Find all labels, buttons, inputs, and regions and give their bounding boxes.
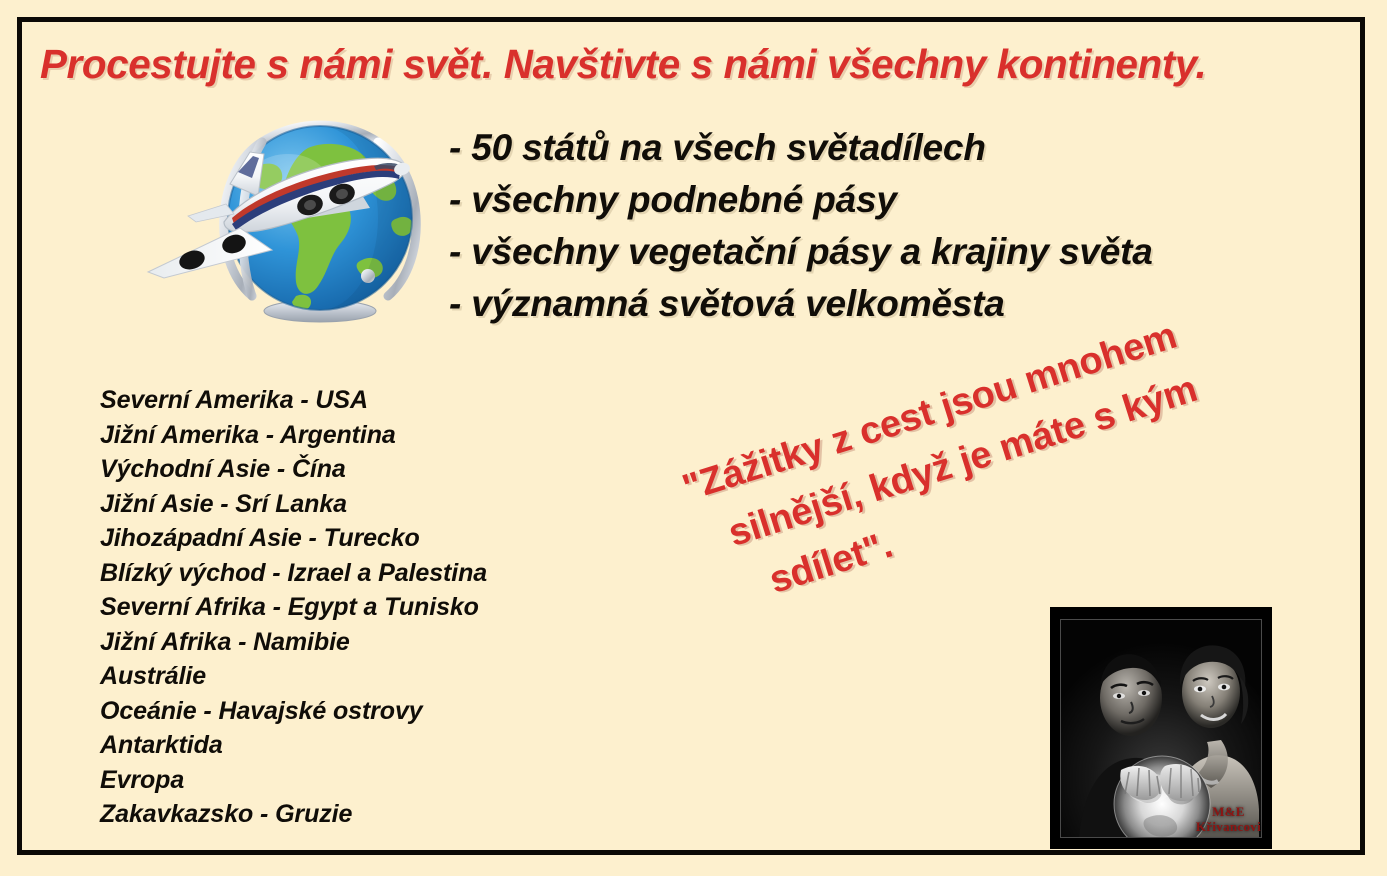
photo-signature-line2: Křivancovi: [1196, 819, 1261, 834]
destination-list: Severní Amerika - USA Jižní Amerika - Ar…: [100, 383, 720, 832]
feature-item: - 50 států na všech světadílech: [449, 122, 1349, 174]
feature-item: - všechny vegetační pásy a krajiny světa: [449, 226, 1349, 278]
destination-item: Zakavkazsko - Gruzie: [100, 797, 720, 832]
globe-illustration-svg: [112, 100, 432, 330]
destination-item: Oceánie - Havajské ostrovy: [100, 694, 720, 729]
globe-with-airplane-icon: [112, 100, 432, 330]
poster-canvas: Procestujte s námi svět. Navštivte s nám…: [0, 0, 1387, 876]
destination-item: Evropa: [100, 763, 720, 798]
destination-item: Antarktida: [100, 728, 720, 763]
destination-item: Austrálie: [100, 659, 720, 694]
page-title: Procestujte s námi svět. Navštivte s nám…: [40, 41, 1340, 88]
author-photo: M&E Křivancovi: [1050, 607, 1272, 849]
destination-item: Blízký východ - Izrael a Palestina: [100, 556, 720, 591]
photo-signature-line1: M&E: [1196, 804, 1261, 819]
destination-item: Jihozápadní Asie - Turecko: [100, 521, 720, 556]
destination-item: Jižní Afrika - Namibie: [100, 625, 720, 660]
destination-item: Severní Amerika - USA: [100, 383, 720, 418]
destination-item: Severní Afrika - Egypt a Tunisko: [100, 590, 720, 625]
feature-item: - všechny podnebné pásy: [449, 174, 1349, 226]
photo-signature: M&E Křivancovi: [1196, 804, 1261, 834]
destination-item: Jižní Amerika - Argentina: [100, 418, 720, 453]
destination-item: Jižní Asie - Srí Lanka: [100, 487, 720, 522]
destination-item: Východní Asie - Čína: [100, 452, 720, 487]
